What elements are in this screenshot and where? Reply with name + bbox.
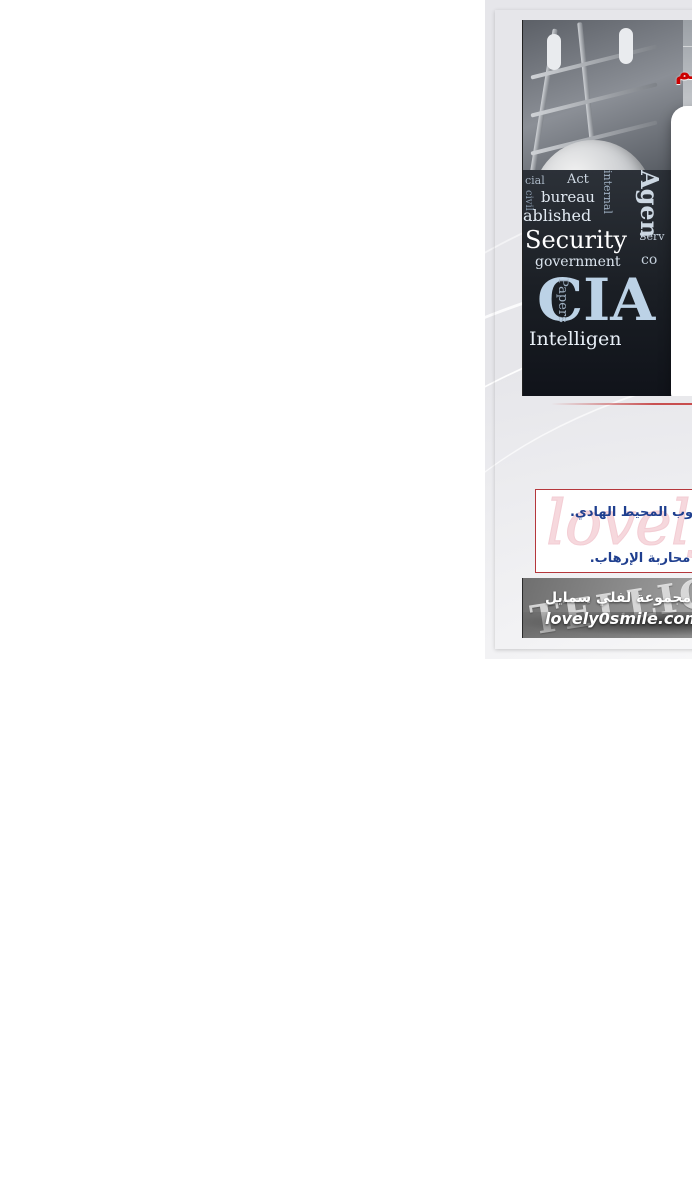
footer-group-name: مجموعة لفلي سمايل <box>60 590 206 606</box>
page-root: TELLIGENCE cial Act internal Agen <box>0 0 692 659</box>
wc-word: civil <box>38 190 49 211</box>
description-box: lovely0smile.com الهدف الرئيسي لهذه المخ… <box>50 489 662 573</box>
wc-word: Serv <box>154 230 180 243</box>
description-line-1: الهدف الرئيسي لهذه المخابرات هو إنجاز تق… <box>85 505 627 543</box>
wc-word: internal <box>116 170 129 214</box>
page-title: أقوى أجهزة مخابرات في العالم <box>38 60 666 84</box>
wc-word: Agen <box>150 170 179 238</box>
wc-word: Security <box>40 226 142 254</box>
wc-word: bureau <box>56 188 110 206</box>
agency-acronym: ASIO <box>10 414 682 432</box>
footer-banner: TELLIGENCE مجموعة لفلي سمايل lovely0smil… <box>37 578 667 638</box>
red-separator <box>66 403 636 405</box>
header-banner: TELLIGENCE cial Act internal Agen <box>37 20 667 396</box>
content-frame: TELLIGENCE cial Act internal Agen <box>10 10 682 649</box>
caption-block: ASIO المخابرات الاسترالية <box>10 414 682 457</box>
intelligence-word-cloud: cial Act internal Agen bureau ablished S… <box>38 170 198 396</box>
wc-word: Intelligen <box>44 328 137 350</box>
wc-word: Papers <box>70 278 85 323</box>
flag-map-card <box>186 106 586 396</box>
footer-website-url[interactable]: lovely0smile.com <box>60 609 216 628</box>
agency-arabic-name: المخابرات الاسترالية <box>10 439 682 457</box>
wc-word: cial <box>40 174 60 187</box>
description-text: الهدف الرئيسي لهذه المخابرات هو إنجاز تق… <box>51 490 661 570</box>
australia-map-with-flag-icon <box>186 106 586 396</box>
description-line-2: تخريب القيم الأخلاقية في المجتمعات المعا… <box>105 551 608 566</box>
wc-word: Act <box>82 172 104 187</box>
